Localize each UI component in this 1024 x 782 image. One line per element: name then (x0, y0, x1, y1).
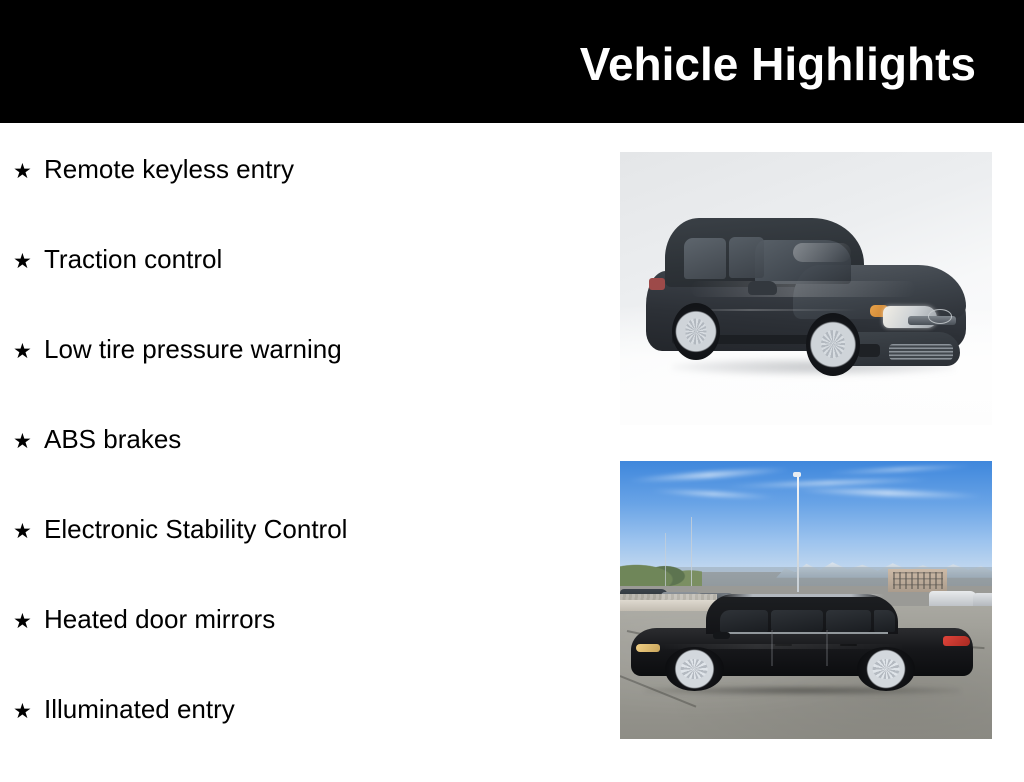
cloud (650, 489, 776, 500)
vehicle-highlights-list: ★ Remote keyless entry ★ Traction contro… (0, 152, 600, 782)
rear-wheel (672, 303, 720, 360)
wheel-cover (873, 659, 900, 679)
utility-pole (691, 517, 693, 587)
list-item-label: Illuminated entry (44, 692, 235, 726)
star-bullet-icon: ★ (13, 337, 32, 365)
front-wheel (665, 647, 723, 690)
roof-rail-highlight (720, 594, 884, 597)
page-title: Vehicle Highlights (580, 36, 976, 92)
cloud (791, 487, 985, 499)
studio-photo (620, 152, 992, 425)
list-item: ★ Illuminated entry (0, 692, 600, 782)
corolla-side-profile (631, 594, 973, 689)
front-wheel (806, 313, 860, 376)
list-item-label: ABS brakes (44, 422, 181, 456)
list-item: ★ Traction control (0, 242, 600, 332)
rear-door-window (826, 610, 870, 633)
corolla-front-three-quarter (646, 218, 966, 376)
rear-side-window (684, 238, 726, 279)
list-item-label: Electronic Stability Control (44, 512, 347, 546)
header-band: Vehicle Highlights (0, 0, 1024, 123)
wheel-cover (685, 319, 706, 344)
slide: Vehicle Highlights ★ Remote keyless entr… (0, 0, 1024, 768)
fog-light-housing (857, 344, 879, 357)
star-bullet-icon: ★ (13, 427, 32, 455)
list-item: ★ Low tire pressure warning (0, 332, 600, 422)
rear-wheel (857, 647, 915, 690)
quarter-window (874, 610, 895, 633)
toyota-emblem-icon (928, 309, 952, 324)
side-mirror (748, 281, 777, 295)
front-side-window (720, 610, 768, 633)
list-item-label: Heated door mirrors (44, 602, 275, 636)
list-item-label: Traction control (44, 242, 222, 276)
body-sheen (691, 281, 915, 297)
list-item: ★ ABS brakes (0, 422, 600, 512)
head-light (636, 644, 660, 653)
list-item-label: Low tire pressure warning (44, 332, 342, 366)
front-side-window (729, 237, 764, 278)
light-pole (797, 475, 799, 592)
window-chrome-trim (717, 632, 888, 634)
tail-light (943, 636, 970, 646)
list-item: ★ Heated door mirrors (0, 602, 600, 692)
list-item: ★ Remote keyless entry (0, 152, 600, 242)
wheel-cover (821, 330, 845, 358)
list-item-label: Remote keyless entry (44, 152, 294, 186)
light-pole-head (793, 472, 801, 477)
tail-light (649, 278, 665, 291)
cloud (724, 477, 932, 489)
front-door-window (771, 610, 822, 633)
side-mirror (713, 632, 730, 639)
cloud (825, 464, 974, 475)
star-bullet-icon: ★ (13, 247, 32, 275)
star-bullet-icon: ★ (13, 697, 32, 725)
lower-grille (889, 344, 953, 360)
star-bullet-icon: ★ (13, 607, 32, 635)
list-item: ★ Electronic Stability Control (0, 512, 600, 602)
star-bullet-icon: ★ (13, 517, 32, 545)
windshield-highlight (793, 243, 851, 262)
wheel-cover (681, 659, 708, 679)
parking-lot-photo (620, 461, 992, 739)
cloud (627, 466, 791, 483)
star-bullet-icon: ★ (13, 157, 32, 185)
studio-backdrop (620, 152, 992, 425)
